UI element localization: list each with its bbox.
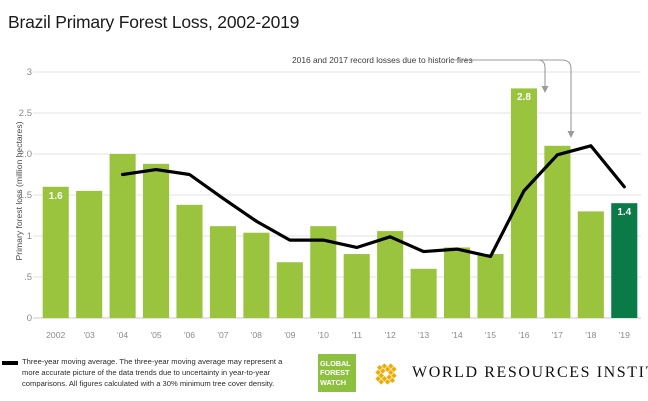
chart-figure: Brazil Primary Forest Loss, 2002-2019 20… — [0, 0, 648, 401]
callout-leader-2016 — [452, 60, 545, 88]
bar — [511, 88, 537, 318]
legend-note: Three-year moving average. The three-yea… — [22, 356, 300, 390]
x-tick-label: '06 — [173, 330, 206, 340]
x-tick-label: '19 — [608, 330, 641, 340]
bar — [210, 226, 236, 318]
bar-series — [43, 88, 638, 318]
chart-footer: Three-year moving average. The three-yea… — [0, 352, 648, 401]
bar — [243, 233, 269, 318]
x-tick-label: '13 — [407, 330, 440, 340]
bar — [377, 231, 403, 318]
x-tick-label: 2002 — [39, 330, 72, 340]
x-tick-label: '05 — [139, 330, 172, 340]
x-tick-label: '17 — [541, 330, 574, 340]
x-tick-label: '08 — [240, 330, 273, 340]
bar — [544, 146, 570, 318]
wri-wordmark: WORLD RESOURCES INSTITUTE — [412, 364, 648, 382]
bar — [176, 205, 202, 318]
bar — [344, 254, 370, 318]
x-tick-label: '07 — [206, 330, 239, 340]
bar — [277, 262, 303, 318]
wri-diamond-logo-icon — [370, 358, 402, 390]
bar — [611, 203, 637, 318]
bar — [43, 187, 69, 318]
x-tick-label: '09 — [273, 330, 306, 340]
bar — [411, 269, 437, 318]
bar-value-label: 1.6 — [39, 191, 72, 202]
bar — [477, 254, 503, 318]
bar-value-label: 2.8 — [507, 92, 540, 103]
gfw-logo-line-1: GLOBAL — [320, 359, 354, 368]
x-tick-label: '15 — [474, 330, 507, 340]
arrowhead-2016 — [542, 86, 549, 93]
x-tick-label: '16 — [507, 330, 540, 340]
x-tick-label: '18 — [574, 330, 607, 340]
x-tick-label: '14 — [440, 330, 473, 340]
gfw-logo-line-2: FOREST — [320, 368, 354, 377]
bar-value-label: 1.4 — [608, 207, 641, 218]
global-forest-watch-logo: GLOBAL FOREST WATCH — [318, 354, 356, 392]
bar — [143, 164, 169, 318]
x-tick-label: '11 — [340, 330, 373, 340]
x-tick-label: '04 — [106, 330, 139, 340]
bar — [578, 211, 604, 318]
x-tick-label: '12 — [373, 330, 406, 340]
x-tick-label: '10 — [307, 330, 340, 340]
bar — [76, 191, 102, 318]
bar — [110, 154, 136, 318]
gfw-logo-line-3: WATCH — [320, 378, 354, 387]
arrowhead-2017 — [568, 131, 575, 138]
bar — [444, 247, 470, 318]
chart-canvas — [0, 0, 648, 401]
x-tick-label: '03 — [72, 330, 105, 340]
legend-line-swatch — [2, 361, 18, 365]
